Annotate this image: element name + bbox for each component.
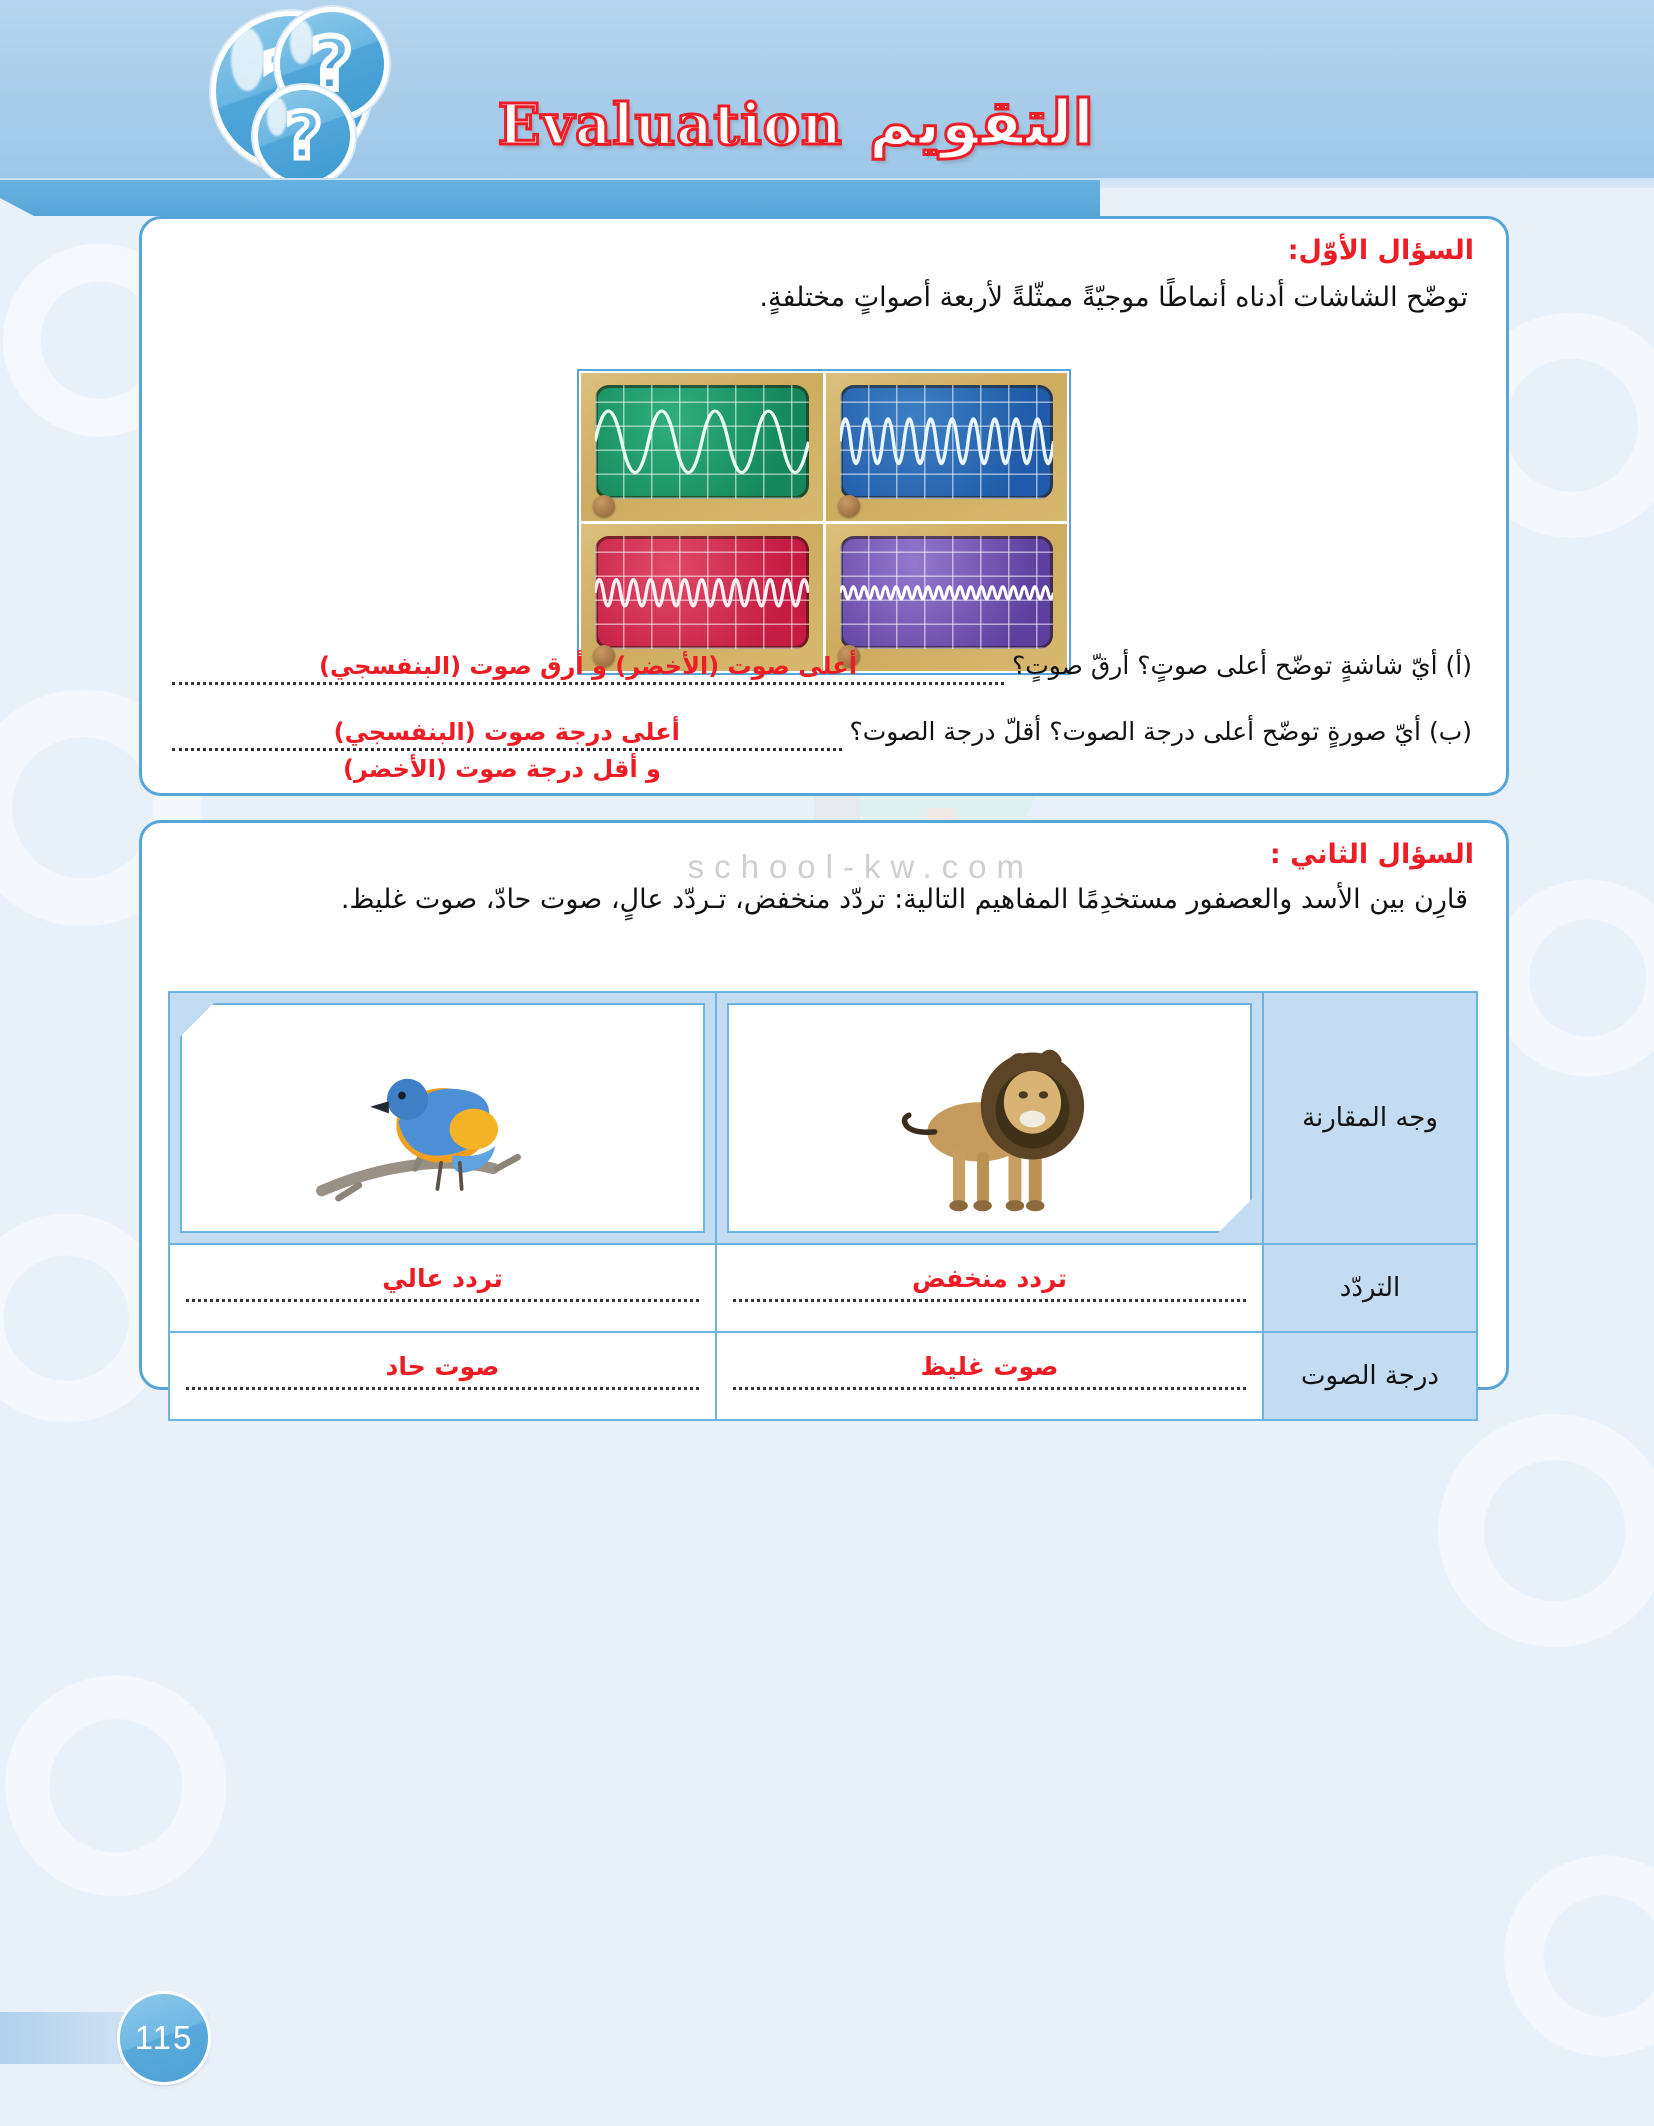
question-1-part-a: (أ) أيّ شاشةٍ توضّح أعلى صوتٍ؟ أرقّ صوتٍ… <box>172 651 1472 685</box>
page-number: 115 <box>120 1994 208 2082</box>
page-title: التقويم Evaluation <box>498 86 1094 159</box>
comparison-table: وجه المقارنة <box>168 991 1478 1421</box>
table-row: درجة الصوت صوت غليظ صوت حاد <box>169 1332 1477 1420</box>
question-mark-bubble-small: ؟ <box>258 90 350 182</box>
bird-pitch-cell: صوت حاد <box>169 1332 716 1420</box>
question-1-part-b: (ب) أيّ صورةٍ توضّح أعلى درجة الصوت؟ أقل… <box>172 717 1472 783</box>
page-header: ؟ ؟ ؟ التقويم Evaluation <box>0 0 1654 178</box>
page-title-english: Evaluation <box>498 92 843 158</box>
lion-frequency-cell: تردد منخفض <box>716 1244 1263 1332</box>
oscilloscope-screen-red <box>595 536 809 650</box>
oscilloscope-red <box>581 524 823 672</box>
lion-photo <box>870 1018 1110 1218</box>
oscilloscope-knob <box>593 495 615 517</box>
lion-image-frame <box>727 1003 1252 1233</box>
bird-frequency-answer[interactable]: تردد عالي <box>186 1264 699 1302</box>
bird-image-frame <box>180 1003 705 1233</box>
table-row: التردّد تردد منخفض تردد عالي <box>169 1244 1477 1332</box>
oscilloscope-green <box>581 373 823 521</box>
oscilloscope-screen-green <box>595 385 809 499</box>
waveform-purple <box>840 536 1054 650</box>
lion-pitch-answer[interactable]: صوت غليظ <box>733 1352 1246 1390</box>
waveform-green <box>595 385 809 499</box>
question-1-part-a-prompt: (أ) أيّ شاشةٍ توضّح أعلى صوتٍ؟ أرقّ صوتٍ… <box>1012 651 1472 680</box>
comparison-aspect-header: وجه المقارنة <box>1263 992 1477 1244</box>
site-watermark: school-kw.com <box>688 848 1034 886</box>
bird-frequency-cell: تردد عالي <box>169 1244 716 1332</box>
question-1-part-a-answer[interactable]: أعلى صوت (الأخضر) و أرق صوت (البنفسجي) <box>172 652 1004 685</box>
question-1-part-b-prompt: (ب) أيّ صورةٍ توضّح أعلى درجة الصوت؟ أقل… <box>850 717 1473 746</box>
lion-frequency-answer[interactable]: تردد منخفض <box>733 1264 1246 1302</box>
question-1-part-b-answer-extra[interactable]: و أقل درجة صوت (الأخضر) <box>172 755 1472 783</box>
question-1-label: السؤال الأوّل: <box>1288 235 1474 266</box>
oscilloscope-grid <box>577 369 1071 675</box>
bird-image-cell <box>169 992 716 1244</box>
question-1-part-b-answer[interactable]: أعلى درجة صوت (البنفسجي) <box>172 718 842 751</box>
question-2-label: السؤال الثاني : <box>1270 839 1474 870</box>
question-mark-bubbles: ؟ ؟ ؟ <box>64 8 384 178</box>
page-title-arabic: التقويم <box>869 86 1094 159</box>
waveform-red <box>595 536 809 650</box>
oscilloscope-purple <box>826 524 1068 672</box>
row-aspect-pitch: درجة الصوت <box>1263 1332 1477 1420</box>
bird-photo <box>303 1023 583 1213</box>
question-1-card: السؤال الأوّل: توضّح الشاشات أدناه أنماط… <box>139 216 1509 796</box>
question-2-card: السؤال الثاني : قارِن بين الأسد والعصفور… <box>139 820 1509 1390</box>
lion-image-cell <box>716 992 1263 1244</box>
question-mark-icon: ؟ <box>258 90 350 182</box>
oscilloscope-screen-blue <box>840 385 1054 499</box>
waveform-blue <box>840 385 1054 499</box>
lion-pitch-cell: صوت غليظ <box>716 1332 1263 1420</box>
row-aspect-frequency: التردّد <box>1263 1244 1477 1332</box>
question-1-text: توضّح الشاشات أدناه أنماطًا موجيّةً ممثّ… <box>178 277 1468 319</box>
oscilloscope-blue <box>826 373 1068 521</box>
bird-pitch-answer[interactable]: صوت حاد <box>186 1352 699 1390</box>
oscilloscope-knob <box>838 495 860 517</box>
oscilloscope-screen-purple <box>840 536 1054 650</box>
header-tab-shape <box>0 180 1100 216</box>
page-body: الكويتية school-kw.com السؤال الأوّل: تو… <box>0 188 1654 2126</box>
table-header-row: وجه المقارنة <box>169 992 1477 1244</box>
